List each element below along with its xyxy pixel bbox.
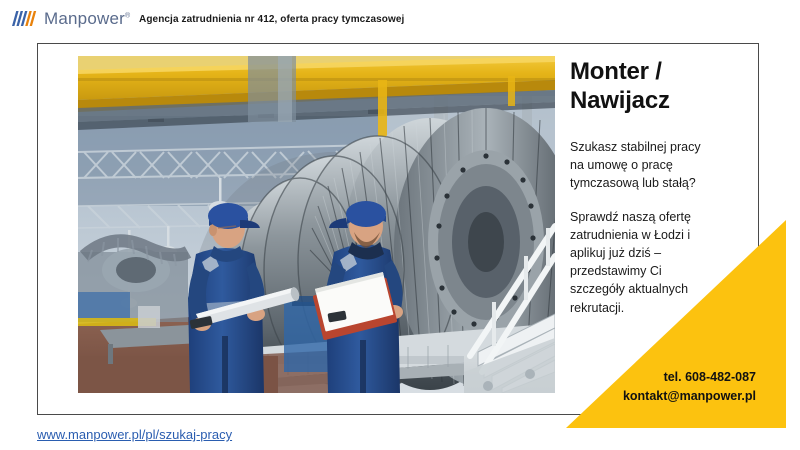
contact-block: tel. 608-482-087 kontakt@manpower.pl <box>560 368 756 406</box>
logo-wordmark-text: Manpower <box>44 9 125 28</box>
offer-paragraph-2: Sprawdź naszą ofertę zatrudnienia w Łodz… <box>570 208 760 317</box>
manpower-logo[interactable]: Manpower® <box>12 10 130 27</box>
page-title: Monter / Nawijacz <box>570 58 760 116</box>
job-offer-photo <box>78 56 555 393</box>
manpower-wordmark: Manpower® <box>44 10 130 27</box>
manpower-slashes-icon <box>12 11 38 26</box>
page-header: Manpower® Agencja zatrudnienia nr 412, o… <box>0 0 800 42</box>
website-link[interactable]: www.manpower.pl/pl/szukaj-pracy <box>37 427 232 442</box>
contact-email[interactable]: kontakt@manpower.pl <box>560 387 756 406</box>
offer-copy-column: Monter / Nawijacz Szukasz stabilnej prac… <box>570 58 760 317</box>
offer-paragraph-1: Szukasz stabilnej pracy na umowę o pracę… <box>570 138 760 192</box>
registered-trademark-icon: ® <box>125 12 130 19</box>
contact-phone[interactable]: tel. 608-482-087 <box>560 368 756 387</box>
header-tagline: Agencja zatrudnienia nr 412, oferta prac… <box>139 14 404 25</box>
